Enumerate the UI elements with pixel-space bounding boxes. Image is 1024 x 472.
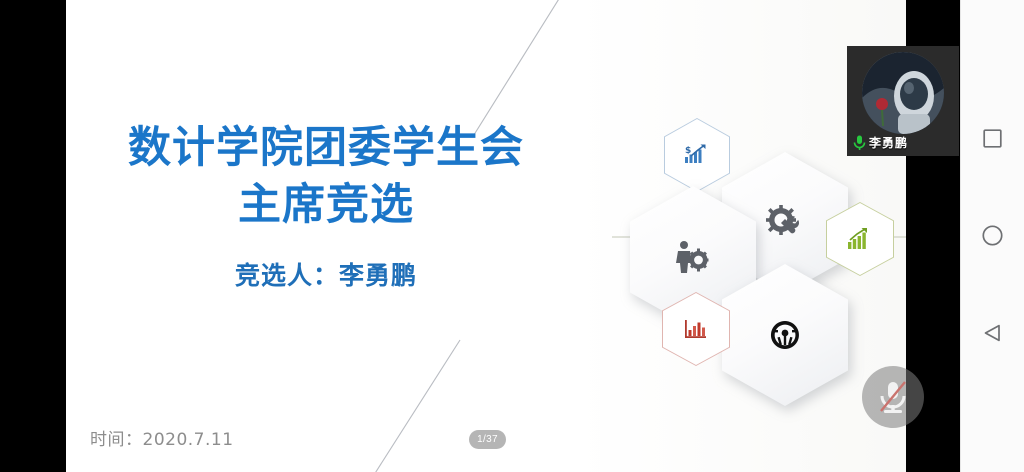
android-nav-bar	[960, 0, 1024, 472]
square-icon	[983, 129, 1002, 148]
dollar-growth-chart-icon: $	[684, 143, 710, 167]
astronaut-avatar-icon	[862, 52, 944, 134]
subtitle: 竞选人：李勇鹏	[66, 256, 586, 292]
mic-mute-button[interactable]	[862, 366, 924, 428]
nav-recents-button[interactable]	[976, 122, 1010, 156]
page-indicator: 1/37	[469, 430, 506, 449]
triangle-back-icon	[983, 323, 1003, 343]
page-title: 数计学院团委学生会 主席竞选	[66, 120, 586, 234]
microphone-muted-icon	[876, 378, 910, 416]
microphone-on-icon	[853, 135, 866, 150]
connector-bottom	[372, 340, 460, 472]
target-node-icon	[769, 319, 801, 351]
nav-back-button[interactable]	[976, 316, 1010, 350]
device-screen: $	[0, 0, 1024, 472]
circle-icon	[982, 225, 1003, 246]
person-gear-icon	[674, 240, 712, 274]
nav-home-button[interactable]	[976, 219, 1010, 253]
gear-wrench-icon	[766, 205, 804, 241]
footer-date: 时间：2020.7.11	[90, 425, 234, 450]
title-block: 数计学院团委学生会 主席竞选 竞选人：李勇鹏	[66, 120, 586, 292]
avatar	[862, 52, 944, 134]
hex-target-node	[722, 264, 848, 406]
participant-name: 李勇鹏	[869, 134, 908, 151]
presentation-slide[interactable]: $	[66, 0, 906, 472]
hex-dollar-growth: $	[664, 118, 730, 192]
participant-name-row: 李勇鹏	[853, 134, 908, 151]
self-video-overlay[interactable]: 李勇鹏	[847, 46, 959, 156]
red-bar-chart-icon	[684, 318, 708, 340]
green-growth-chart-icon	[847, 227, 873, 251]
